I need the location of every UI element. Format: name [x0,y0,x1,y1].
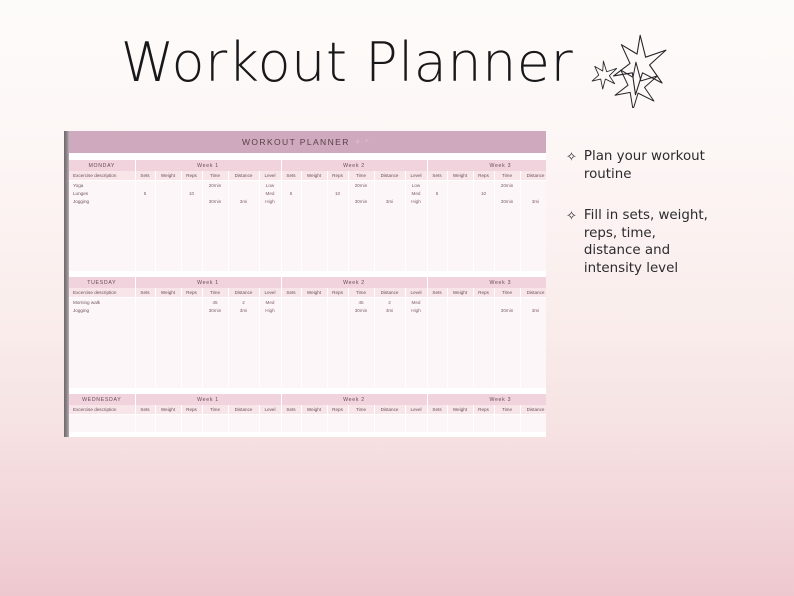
cell-reps[interactable] [181,197,202,205]
cell-empty[interactable] [473,222,494,230]
cell-description[interactable] [69,206,135,214]
cell-empty[interactable] [259,230,281,238]
cell-empty[interactable] [405,255,427,263]
table-row-empty[interactable] [69,214,546,222]
cell-empty[interactable] [228,423,259,431]
cell-empty[interactable] [228,222,259,230]
cell-empty[interactable] [494,230,520,238]
cell-sets[interactable] [135,306,155,314]
cell-empty[interactable] [348,380,374,388]
cell-empty[interactable] [348,214,374,222]
cell-empty[interactable] [228,415,259,424]
cell-empty[interactable] [374,247,405,255]
cell-empty[interactable] [181,222,202,230]
cell-empty[interactable] [494,423,520,431]
cell-empty[interactable] [181,238,202,246]
cell-empty[interactable] [447,247,473,255]
cell-weight[interactable] [447,197,473,205]
cell-empty[interactable] [155,364,181,372]
cell-time[interactable]: 45 [202,298,228,307]
cell-empty[interactable] [427,206,447,214]
cell-weight[interactable] [301,197,327,205]
cell-level[interactable]: High [405,197,427,205]
cell-empty[interactable] [447,347,473,355]
cell-reps[interactable] [181,181,202,190]
cell-empty[interactable] [520,255,546,263]
cell-empty[interactable] [520,347,546,355]
cell-empty[interactable] [228,314,259,322]
cell-empty[interactable] [348,222,374,230]
cell-empty[interactable] [327,255,348,263]
cell-empty[interactable] [494,263,520,271]
cell-empty[interactable] [473,255,494,263]
cell-empty[interactable] [473,247,494,255]
cell-empty[interactable] [447,230,473,238]
cell-empty[interactable] [135,263,155,271]
cell-empty[interactable] [155,263,181,271]
table-row[interactable]: Lunges510Med510Med510Med [69,189,546,197]
cell-description[interactable] [69,314,135,322]
cell-empty[interactable] [494,380,520,388]
cell-empty[interactable] [405,323,427,331]
cell-empty[interactable] [135,222,155,230]
cell-empty[interactable] [135,347,155,355]
cell-empty[interactable] [494,314,520,322]
day-block-monday[interactable]: MONDAYWeek 1Week 2Week 3Excercise descri… [69,160,546,271]
cell-description[interactable]: Jogging [69,197,135,205]
cell-distance[interactable] [520,298,546,307]
cell-empty[interactable] [427,415,447,424]
cell-empty[interactable] [473,323,494,331]
cell-empty[interactable] [327,238,348,246]
cell-weight[interactable] [301,189,327,197]
cell-empty[interactable] [374,331,405,339]
cell-description[interactable] [69,331,135,339]
table-row-empty[interactable] [69,339,546,347]
cell-empty[interactable] [473,314,494,322]
cell-empty[interactable] [228,380,259,388]
cell-empty[interactable] [259,355,281,363]
cell-time[interactable] [348,189,374,197]
cell-empty[interactable] [181,263,202,271]
cell-empty[interactable] [427,314,447,322]
cell-empty[interactable] [520,355,546,363]
cell-empty[interactable] [301,255,327,263]
cell-empty[interactable] [427,372,447,380]
cell-empty[interactable] [473,263,494,271]
cell-empty[interactable] [301,230,327,238]
cell-empty[interactable] [301,364,327,372]
cell-empty[interactable] [374,364,405,372]
cell-description[interactable] [69,347,135,355]
cell-reps[interactable] [327,306,348,314]
cell-empty[interactable] [181,380,202,388]
cell-empty[interactable] [281,323,301,331]
cell-empty[interactable] [520,206,546,214]
cell-empty[interactable] [281,314,301,322]
cell-empty[interactable] [301,314,327,322]
cell-empty[interactable] [447,238,473,246]
cell-empty[interactable] [374,222,405,230]
table-row-empty[interactable] [69,255,546,263]
cell-empty[interactable] [520,331,546,339]
cell-empty[interactable] [301,222,327,230]
cell-empty[interactable] [447,355,473,363]
cell-empty[interactable] [374,206,405,214]
cell-empty[interactable] [181,255,202,263]
cell-empty[interactable] [405,214,427,222]
cell-empty[interactable] [259,263,281,271]
cell-distance[interactable]: 2 [228,298,259,307]
cell-time[interactable]: 20min [494,181,520,190]
cell-empty[interactable] [259,380,281,388]
cell-empty[interactable] [281,355,301,363]
cell-distance[interactable] [228,181,259,190]
cell-empty[interactable] [473,214,494,222]
cell-empty[interactable] [281,263,301,271]
cell-empty[interactable] [155,355,181,363]
table-row-empty[interactable] [69,415,546,424]
table-row-empty[interactable] [69,247,546,255]
cell-empty[interactable] [427,423,447,431]
cell-empty[interactable] [135,206,155,214]
cell-empty[interactable] [301,238,327,246]
cell-empty[interactable] [405,364,427,372]
cell-empty[interactable] [259,314,281,322]
cell-description[interactable] [69,214,135,222]
cell-empty[interactable] [155,230,181,238]
cell-sets[interactable] [281,181,301,190]
cell-empty[interactable] [281,206,301,214]
cell-empty[interactable] [374,263,405,271]
cell-empty[interactable] [202,423,228,431]
day-block-wednesday[interactable]: WEDNESDAYWeek 1Week 2Week 3Excercise des… [69,394,546,431]
cell-empty[interactable] [494,347,520,355]
cell-reps[interactable] [181,298,202,307]
cell-empty[interactable] [494,238,520,246]
table-row-empty[interactable] [69,314,546,322]
cell-sets[interactable] [281,306,301,314]
cell-description[interactable] [69,372,135,380]
cell-distance[interactable]: 3mi [228,306,259,314]
cell-distance[interactable]: 3mi [228,197,259,205]
cell-empty[interactable] [473,238,494,246]
cell-empty[interactable] [374,238,405,246]
cell-empty[interactable] [181,372,202,380]
cell-description[interactable]: Lunges [69,189,135,197]
cell-empty[interactable] [520,247,546,255]
cell-empty[interactable] [228,355,259,363]
cell-empty[interactable] [228,323,259,331]
cell-empty[interactable] [405,415,427,424]
cell-reps[interactable] [473,181,494,190]
cell-empty[interactable] [327,230,348,238]
table-row-empty[interactable] [69,423,546,431]
cell-empty[interactable] [301,355,327,363]
cell-level[interactable]: Med [259,189,281,197]
cell-time[interactable]: 30min [202,197,228,205]
cell-empty[interactable] [348,339,374,347]
cell-empty[interactable] [155,222,181,230]
cell-empty[interactable] [427,230,447,238]
cell-empty[interactable] [348,206,374,214]
cell-empty[interactable] [405,423,427,431]
cell-empty[interactable] [348,230,374,238]
cell-empty[interactable] [327,380,348,388]
cell-reps[interactable]: 10 [473,189,494,197]
cell-empty[interactable] [202,222,228,230]
cell-empty[interactable] [135,255,155,263]
cell-empty[interactable] [405,314,427,322]
cell-empty[interactable] [202,247,228,255]
cell-empty[interactable] [327,415,348,424]
cell-sets[interactable] [135,298,155,307]
table-row-empty[interactable] [69,355,546,363]
cell-empty[interactable] [374,347,405,355]
cell-reps[interactable] [327,298,348,307]
cell-reps[interactable] [327,197,348,205]
cell-distance[interactable]: 2 [374,298,405,307]
cell-sets[interactable] [281,298,301,307]
cell-empty[interactable] [327,214,348,222]
cell-empty[interactable] [281,347,301,355]
cell-weight[interactable] [447,298,473,307]
cell-empty[interactable] [473,206,494,214]
cell-empty[interactable] [181,323,202,331]
cell-empty[interactable] [520,423,546,431]
cell-sets[interactable] [281,197,301,205]
cell-weight[interactable] [447,306,473,314]
cell-empty[interactable] [327,423,348,431]
cell-empty[interactable] [155,314,181,322]
cell-weight[interactable] [155,306,181,314]
cell-distance[interactable]: 3mi [374,306,405,314]
cell-empty[interactable] [301,339,327,347]
cell-empty[interactable] [327,364,348,372]
cell-empty[interactable] [327,339,348,347]
cell-empty[interactable] [374,380,405,388]
cell-empty[interactable] [281,364,301,372]
cell-empty[interactable] [348,423,374,431]
cell-empty[interactable] [473,415,494,424]
table-row-empty[interactable] [69,238,546,246]
cell-empty[interactable] [301,247,327,255]
cell-sets[interactable]: 5 [281,189,301,197]
cell-empty[interactable] [374,323,405,331]
cell-sets[interactable]: 5 [427,189,447,197]
cell-sets[interactable] [135,181,155,190]
cell-empty[interactable] [259,247,281,255]
cell-reps[interactable] [473,306,494,314]
cell-empty[interactable] [301,415,327,424]
cell-empty[interactable] [427,347,447,355]
cell-empty[interactable] [473,331,494,339]
cell-empty[interactable] [494,372,520,380]
cell-empty[interactable] [181,314,202,322]
cell-empty[interactable] [447,380,473,388]
cell-empty[interactable] [494,214,520,222]
cell-empty[interactable] [473,364,494,372]
cell-empty[interactable] [447,206,473,214]
table-row-empty[interactable] [69,263,546,271]
cell-empty[interactable] [135,230,155,238]
cell-empty[interactable] [520,214,546,222]
cell-empty[interactable] [281,331,301,339]
cell-empty[interactable] [494,339,520,347]
cell-empty[interactable] [281,423,301,431]
cell-empty[interactable] [520,380,546,388]
cell-empty[interactable] [301,380,327,388]
cell-sets[interactable] [427,197,447,205]
cell-empty[interactable] [181,247,202,255]
cell-empty[interactable] [259,214,281,222]
cell-empty[interactable] [374,372,405,380]
cell-level[interactable]: Low [405,181,427,190]
cell-distance[interactable]: 3mi [374,197,405,205]
cell-empty[interactable] [427,222,447,230]
cell-empty[interactable] [228,331,259,339]
cell-empty[interactable] [348,238,374,246]
cell-empty[interactable] [405,331,427,339]
cell-empty[interactable] [348,255,374,263]
cell-empty[interactable] [181,230,202,238]
cell-time[interactable]: 30min [202,306,228,314]
cell-empty[interactable] [348,247,374,255]
cell-empty[interactable] [135,314,155,322]
cell-empty[interactable] [327,263,348,271]
cell-empty[interactable] [447,222,473,230]
cell-empty[interactable] [447,323,473,331]
cell-empty[interactable] [155,415,181,424]
cell-empty[interactable] [155,255,181,263]
cell-empty[interactable] [494,247,520,255]
cell-description[interactable] [69,355,135,363]
cell-empty[interactable] [520,323,546,331]
cell-description[interactable] [69,255,135,263]
cell-distance[interactable] [520,181,546,190]
cell-distance[interactable]: 3mi [520,306,546,314]
cell-description[interactable]: Yoga [69,181,135,190]
cell-empty[interactable] [374,415,405,424]
cell-distance[interactable] [228,189,259,197]
cell-empty[interactable] [473,380,494,388]
cell-empty[interactable] [348,355,374,363]
cell-time[interactable]: 30min [348,306,374,314]
cell-empty[interactable] [327,206,348,214]
cell-empty[interactable] [447,339,473,347]
cell-level[interactable]: Med [405,298,427,307]
cell-empty[interactable] [135,331,155,339]
cell-empty[interactable] [327,372,348,380]
cell-empty[interactable] [202,415,228,424]
cell-empty[interactable] [259,206,281,214]
cell-empty[interactable] [427,339,447,347]
cell-empty[interactable] [228,230,259,238]
cell-time[interactable]: 45 [348,298,374,307]
cell-empty[interactable] [301,214,327,222]
cell-empty[interactable] [202,263,228,271]
cell-empty[interactable] [259,238,281,246]
cell-empty[interactable] [494,355,520,363]
cell-empty[interactable] [202,339,228,347]
cell-empty[interactable] [202,255,228,263]
cell-empty[interactable] [327,314,348,322]
cell-empty[interactable] [327,347,348,355]
cell-empty[interactable] [405,222,427,230]
cell-empty[interactable] [281,415,301,424]
cell-empty[interactable] [473,339,494,347]
cell-empty[interactable] [259,255,281,263]
cell-empty[interactable] [374,214,405,222]
cell-description[interactable]: Jogging [69,306,135,314]
cell-empty[interactable] [228,206,259,214]
cell-empty[interactable] [181,364,202,372]
cell-empty[interactable] [405,355,427,363]
cell-empty[interactable] [301,331,327,339]
cell-empty[interactable] [301,263,327,271]
cell-empty[interactable] [281,238,301,246]
cell-empty[interactable] [202,230,228,238]
table-row[interactable]: Morning walk452Med452Med [69,298,546,307]
cell-empty[interactable] [494,415,520,424]
cell-sets[interactable] [427,181,447,190]
cell-empty[interactable] [228,214,259,222]
cell-description[interactable] [69,423,135,431]
cell-empty[interactable] [348,372,374,380]
cell-empty[interactable] [281,247,301,255]
cell-level[interactable]: Low [259,181,281,190]
cell-reps[interactable]: 10 [327,189,348,197]
cell-empty[interactable] [405,247,427,255]
cell-empty[interactable] [301,372,327,380]
cell-empty[interactable] [202,206,228,214]
cell-description[interactable] [69,339,135,347]
cell-time[interactable] [202,189,228,197]
table-row-empty[interactable] [69,372,546,380]
cell-empty[interactable] [155,423,181,431]
cell-empty[interactable] [228,364,259,372]
cell-time[interactable]: 30min [494,306,520,314]
cell-empty[interactable] [202,323,228,331]
table-row-empty[interactable] [69,323,546,331]
cell-empty[interactable] [181,339,202,347]
cell-empty[interactable] [181,214,202,222]
cell-empty[interactable] [228,247,259,255]
cell-description[interactable] [69,247,135,255]
cell-time[interactable] [494,189,520,197]
cell-reps[interactable] [327,181,348,190]
cell-distance[interactable]: 3mi [520,197,546,205]
cell-empty[interactable] [327,331,348,339]
cell-empty[interactable] [228,238,259,246]
cell-empty[interactable] [281,372,301,380]
cell-empty[interactable] [374,230,405,238]
cell-time[interactable]: 20min [202,181,228,190]
cell-empty[interactable] [348,263,374,271]
cell-empty[interactable] [155,238,181,246]
cell-description[interactable] [69,364,135,372]
cell-empty[interactable] [374,255,405,263]
cell-sets[interactable] [427,306,447,314]
cell-reps[interactable]: 10 [181,189,202,197]
cell-reps[interactable] [473,197,494,205]
cell-description[interactable] [69,415,135,424]
cell-level[interactable]: High [405,306,427,314]
cell-empty[interactable] [520,263,546,271]
cell-empty[interactable] [427,238,447,246]
cell-empty[interactable] [520,415,546,424]
cell-empty[interactable] [135,372,155,380]
